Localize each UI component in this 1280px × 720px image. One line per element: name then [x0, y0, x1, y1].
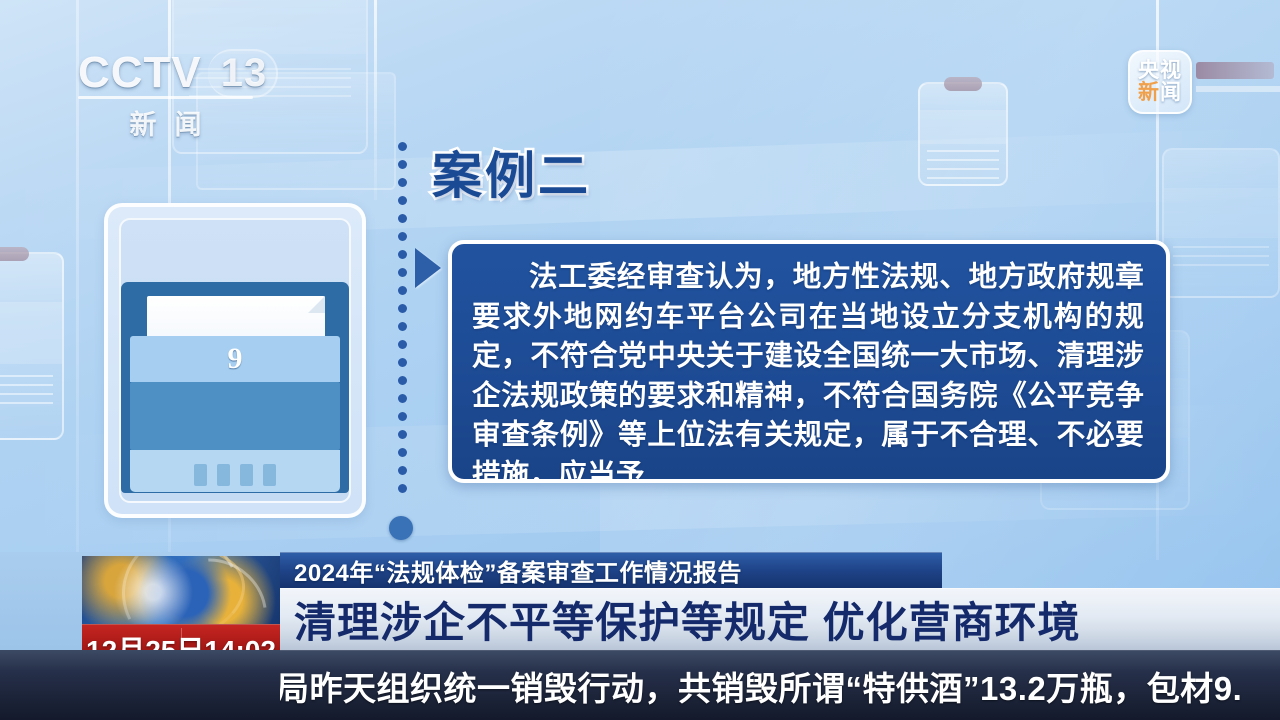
watermark-line-one: 央视: [1138, 60, 1182, 82]
timeline-dot: [398, 196, 407, 205]
case-body-text: 法工委经审查认为，地方性法规、地方政府规章要求外地网约车平台公司在当地设立分支机…: [472, 258, 1144, 483]
timeline-end-marker: [389, 516, 413, 540]
document-box-inner: 9: [119, 218, 351, 503]
card-band: [920, 110, 1006, 144]
timeline-dot: [398, 466, 407, 475]
cctv-news-label: 新闻: [78, 103, 253, 142]
timeline-dot: [398, 232, 407, 241]
card-text-lines: [927, 150, 999, 186]
card-band: [174, 0, 366, 54]
channel-number: 13: [208, 49, 279, 98]
timeline-dot: [398, 484, 407, 493]
case-heading: 案例二: [432, 136, 591, 208]
timeline-dot: [398, 214, 407, 223]
news-ticker-bar: 局昨天组织统一销毁行动，共销毁所谓“特供酒”13.2万瓶，包材9.: [280, 650, 1280, 720]
timeline-dot: [398, 448, 407, 457]
timeline-dot: [398, 250, 407, 259]
news-globe-graphic: [82, 556, 280, 628]
watermark-char-orange: 新: [1138, 81, 1160, 104]
paperclip-icon: [944, 77, 982, 91]
lower-third: 12月25日14:02 2024年“法规体检”备案审查工作情况报告 清理涉企不平…: [0, 552, 1280, 720]
timeline-dot: [398, 142, 407, 151]
timeline-dot: [398, 322, 407, 331]
cctv-letters: CCTV: [78, 48, 202, 98]
timeline-dot: [398, 304, 407, 313]
timeline-dot: [398, 376, 407, 385]
background-document-card: [1162, 148, 1280, 298]
timeline-dot: [398, 286, 407, 295]
document-box-illustration: 9: [104, 203, 366, 518]
card-text-lines: [1173, 246, 1269, 273]
broadcast-frame: CCTV 13 新闻 央视 新闻 9: [0, 0, 1280, 720]
timeline-dot: [398, 268, 407, 277]
program-subtitle-bar: 2024年“法规体检”备案审查工作情况报告: [280, 552, 942, 588]
card-band: [0, 302, 62, 365]
dotted-timeline: [394, 142, 410, 522]
program-subtitle-text: 2024年“法规体检”备案审查工作情况报告: [294, 553, 742, 588]
file-box-tabs: [121, 464, 349, 486]
timeline-dot: [398, 340, 407, 349]
case-text-panel: 法工委经审查认为，地方性法规、地方政府规章要求外地网约车平台公司在当地设立分支机…: [448, 240, 1170, 483]
cctv13-channel-logo: CCTV 13 新闻: [78, 48, 278, 138]
timeline-dot: [398, 160, 407, 169]
cctv-news-watermark: 央视 新闻: [1128, 50, 1192, 114]
background-document-card: [918, 82, 1008, 186]
timeline-dot: [398, 430, 407, 439]
document-number-badge: 9: [228, 342, 243, 376]
headline-text: 清理涉企不平等保护等规定 优化营商环境: [294, 589, 1081, 650]
timeline-dot: [398, 394, 407, 403]
paperclip-icon: [0, 247, 29, 261]
ticker-left-cap: [0, 650, 280, 720]
headline-bar: 清理涉企不平等保护等规定 优化营商环境: [280, 588, 1280, 650]
watermark-accent-bar: [1196, 62, 1274, 79]
news-ticker-text: 局昨天组织统一销毁行动，共销毁所谓“特供酒”13.2万瓶，包材9.: [280, 662, 1242, 710]
timeline-dot: [398, 358, 407, 367]
card-text-lines: [0, 375, 53, 411]
card-band: [1164, 188, 1278, 238]
cctv-wordmark: CCTV 13: [78, 48, 278, 98]
watermark-accent-line: [1196, 86, 1280, 92]
watermark-char-white: 闻: [1160, 81, 1182, 104]
background-document-card: [0, 252, 64, 440]
timeline-dot: [398, 178, 407, 187]
watermark-line-two: 新闻: [1138, 82, 1182, 104]
timeline-dot: [398, 412, 407, 421]
arrow-pointer-icon: [415, 248, 441, 288]
file-box-front-middle: [130, 382, 340, 450]
